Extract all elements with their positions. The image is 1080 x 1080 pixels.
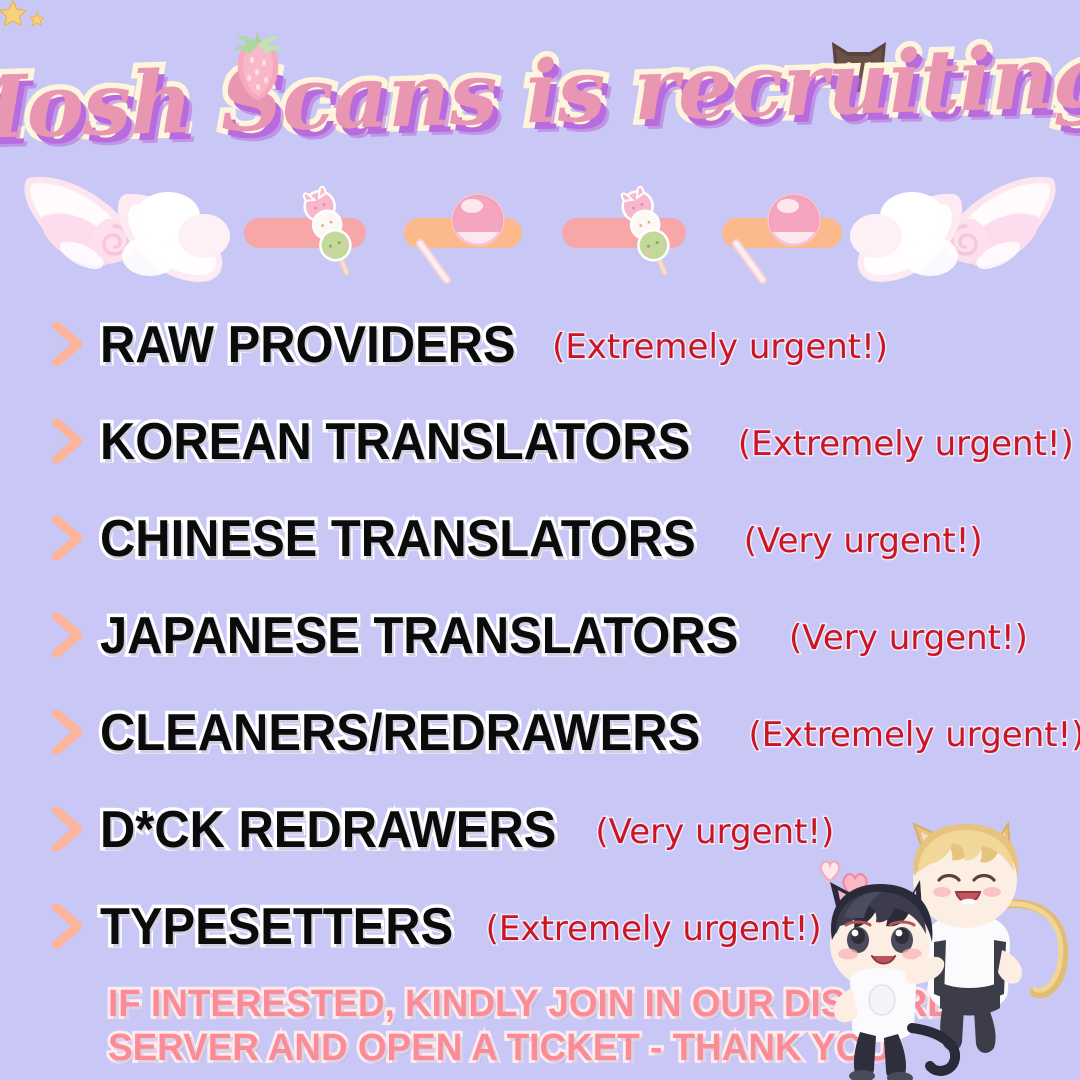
recruitment-poster: Mosh Scans is recruiting! [0, 0, 1080, 1080]
page-title: Mosh Scans is recruiting! [0, 33, 1080, 153]
role-urgency: (Extremely urgent!) [552, 330, 888, 364]
chevron-right-icon [52, 613, 82, 657]
role-urgency: (Extremely urgent!) [486, 912, 822, 946]
role-row-raw-providers: RAW PROVIDERS (Extremely urgent!) [0, 296, 1080, 393]
role-urgency: (Very urgent!) [789, 621, 1028, 655]
role-name: CHINESE TRANSLATORS [100, 513, 696, 565]
role-name: JAPANESE TRANSLATORS [100, 610, 738, 662]
strawberry-icon [228, 30, 288, 102]
role-name: D*CK REDRAWERS [100, 804, 556, 856]
chevron-right-icon [52, 807, 82, 851]
chevron-right-icon [52, 516, 82, 560]
star-icon [30, 12, 44, 26]
divider-decoration [0, 160, 1080, 292]
chevron-right-icon [52, 322, 82, 366]
chevron-right-icon [52, 419, 82, 463]
chibi-catboys-illustration [794, 822, 1080, 1080]
role-row-chinese-translators: CHINESE TRANSLATORS (Very urgent!) [0, 490, 1080, 587]
role-name: CLEANERS/REDRAWERS [100, 707, 700, 759]
title-area: Mosh Scans is recruiting! [0, 28, 1080, 158]
role-urgency: (Extremely urgent!) [738, 427, 1074, 461]
role-row-korean-translators: KOREAN TRANSLATORS (Extremely urgent!) [0, 393, 1080, 490]
role-urgency: (Extremely urgent!) [749, 718, 1080, 752]
role-name: RAW PROVIDERS [100, 319, 516, 371]
angel-wing-icon [847, 164, 1062, 288]
role-row-cleaners-redrawers: CLEANERS/REDRAWERS (Extremely urgent!) [0, 684, 1080, 781]
role-urgency: (Very urgent!) [744, 524, 983, 558]
role-row-japanese-translators: JAPANESE TRANSLATORS (Very urgent!) [0, 587, 1080, 684]
chevron-right-icon [52, 710, 82, 754]
role-name: TYPESETTERS [100, 901, 453, 953]
angel-wing-icon [18, 164, 233, 288]
chevron-right-icon [52, 904, 82, 948]
role-name: KOREAN TRANSLATORS [100, 416, 690, 468]
star-icon [0, 0, 26, 26]
